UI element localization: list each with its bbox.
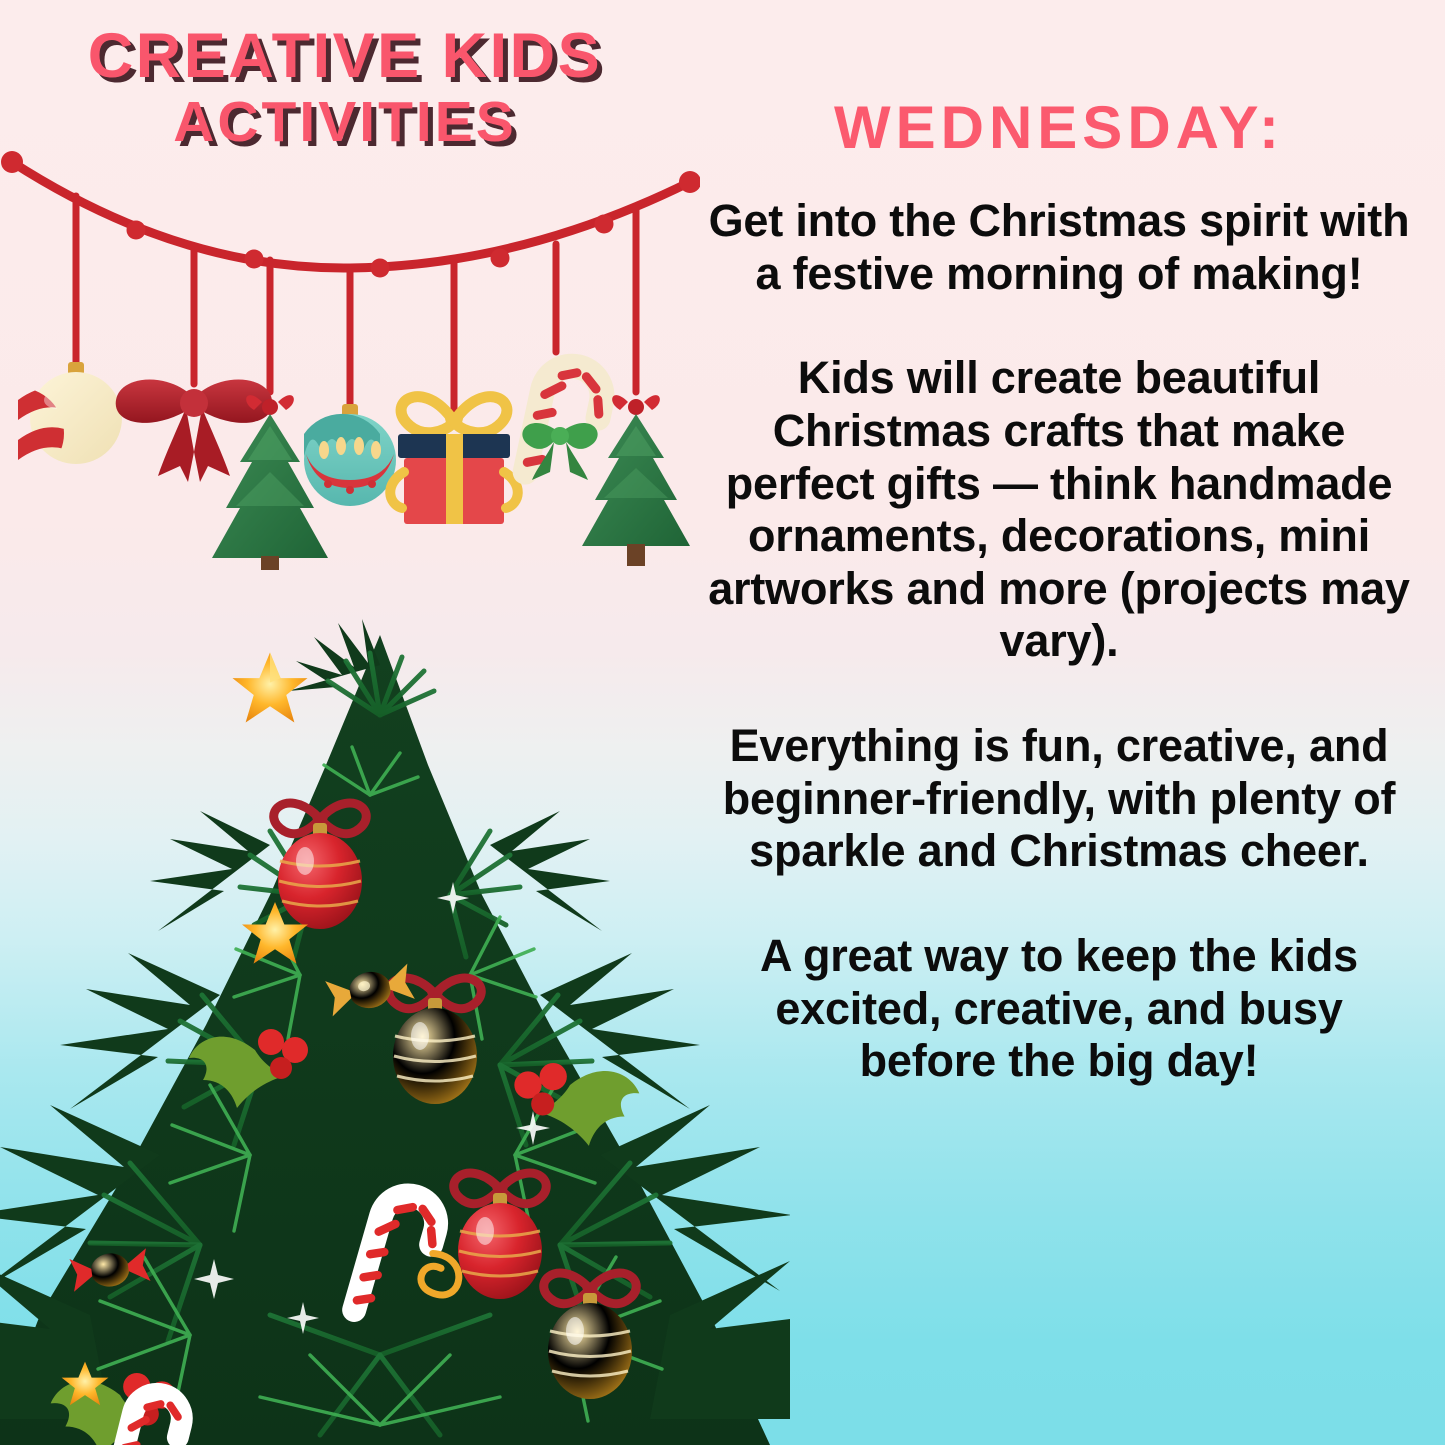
description-column: WEDNESDAY: Get into the Christmas spirit… [706,96,1412,1088]
paragraph-intro: Get into the Christmas spirit with a fes… [706,195,1412,300]
paragraph-closing: A great way to keep the kids excited, cr… [706,930,1412,1088]
poster-canvas: CREATIVE KIDS ACTIVITIES [0,0,1445,1445]
title-line-one: CREATIVE KIDS [0,24,690,88]
ornament-gift-box [390,397,518,524]
paragraph-fun: Everything is fun, creative, and beginne… [706,720,1412,878]
ornament-teal-bauble [304,404,396,506]
ornament-red-bow [116,380,273,482]
page-title: CREATIVE KIDS ACTIVITIES [0,24,690,151]
ornament-striped-bauble [18,362,134,464]
day-heading: WEDNESDAY: [706,96,1412,159]
paragraph-crafts: Kids will create beautiful Christmas cra… [706,352,1412,668]
decorated-christmas-tree [0,595,790,1445]
ornament-candy-cane [522,361,607,485]
gold-star [233,653,308,723]
garland-decoration [0,140,700,570]
title-line-two: ACTIVITIES [0,93,690,151]
